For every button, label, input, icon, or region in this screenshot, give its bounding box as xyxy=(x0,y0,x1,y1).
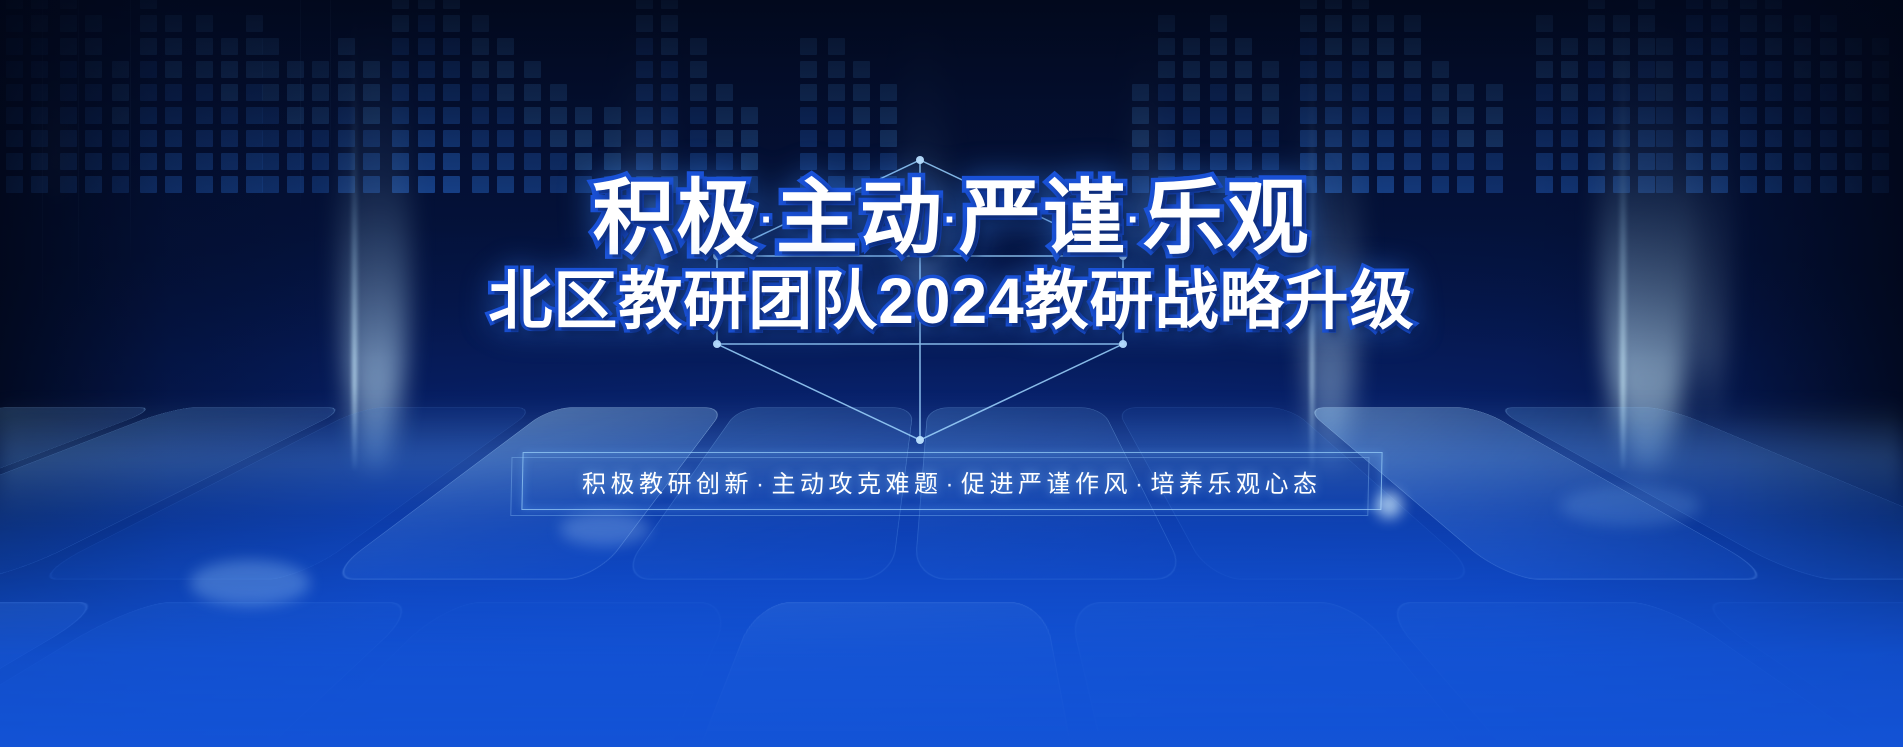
skyline-pixel xyxy=(287,107,304,124)
skyline-pixel xyxy=(1377,84,1394,101)
skyline-pixel xyxy=(418,0,435,9)
skyline-pixel-column xyxy=(1656,38,1673,193)
skyline-pixel xyxy=(85,15,102,32)
skyline-pixel xyxy=(741,107,758,124)
skyline-pixel xyxy=(1561,61,1578,78)
skyline-pixel xyxy=(828,130,845,147)
skyline-pixel xyxy=(661,107,678,124)
skyline-pixel xyxy=(60,153,77,170)
skyline-pixel xyxy=(1561,153,1578,170)
skyline-pixel xyxy=(1235,38,1252,55)
skyline-pixel xyxy=(1352,107,1369,124)
title-separator-1: · xyxy=(760,198,775,242)
skyline-pixel xyxy=(1740,153,1757,170)
skyline-pixel xyxy=(1656,107,1673,124)
skyline-pixel xyxy=(524,61,541,78)
skyline-pixel xyxy=(221,153,238,170)
skyline-pixel xyxy=(1820,153,1837,170)
skyline-pixel xyxy=(1432,153,1449,170)
skyline-pixel xyxy=(1300,61,1317,78)
skyline-pixel xyxy=(1210,130,1227,147)
skyline-pixel xyxy=(1765,153,1782,170)
skyline-pixel xyxy=(221,130,238,147)
skyline-pixel xyxy=(1765,107,1782,124)
skyline-pixel xyxy=(1711,107,1728,124)
skyline-pixel xyxy=(1432,61,1449,78)
skyline-pixel xyxy=(196,61,213,78)
skyline-pixel xyxy=(246,107,263,124)
skyline-pixel xyxy=(472,107,489,124)
skyline-pixel xyxy=(1183,38,1200,55)
skyline-pixel xyxy=(636,61,653,78)
skyline-pixel xyxy=(246,15,263,32)
skyline-pixel xyxy=(853,107,870,124)
skyline-pixel xyxy=(1638,84,1655,101)
skyline-pixel xyxy=(1210,107,1227,124)
skyline-pixel xyxy=(1588,15,1605,32)
skyline-pixel xyxy=(262,84,279,101)
title-separator-3: · xyxy=(1127,198,1142,242)
skyline-pixel xyxy=(312,84,329,101)
skyline-pixel xyxy=(800,84,817,101)
skyline-pixel xyxy=(1300,153,1317,170)
skyline-pixel xyxy=(1325,15,1342,32)
skyline-pixel xyxy=(472,15,489,32)
skyline-pixel xyxy=(1352,84,1369,101)
skyline-pixel xyxy=(1794,38,1811,55)
skyline-pixel xyxy=(246,61,263,78)
skyline-pixel xyxy=(1820,107,1837,124)
tagline-separator-2: · xyxy=(942,471,961,498)
skyline-pixel xyxy=(85,153,102,170)
skyline-pixel xyxy=(716,130,733,147)
skyline-pixel xyxy=(1325,107,1342,124)
skyline-pixel xyxy=(1686,0,1703,9)
skyline-pixel xyxy=(1377,61,1394,78)
skyline-pixel-column xyxy=(312,61,329,193)
page-title: 积极·主动·严谨·乐观 xyxy=(592,178,1310,260)
skyline-pixel xyxy=(472,38,489,55)
skyline-pixel xyxy=(1404,38,1421,55)
skyline-pixel xyxy=(716,84,733,101)
skyline-pixel xyxy=(1588,61,1605,78)
skyline-pixel xyxy=(828,61,845,78)
skyline-pixel xyxy=(60,61,77,78)
skyline-pixel xyxy=(1740,107,1757,124)
skyline-pixel xyxy=(1711,84,1728,101)
skyline-pixel xyxy=(1235,107,1252,124)
title-word-4: 乐观 xyxy=(1143,173,1311,264)
skyline-pixel xyxy=(246,130,263,147)
skyline-pixel xyxy=(1686,61,1703,78)
skyline-pixel xyxy=(140,15,157,32)
skyline-pixel-column xyxy=(31,0,48,193)
skyline-pixel xyxy=(1588,38,1605,55)
main-title-row: 积极·主动·严谨·乐观 xyxy=(0,178,1903,260)
skyline-pixel xyxy=(363,130,380,147)
skyline-pixel xyxy=(1432,130,1449,147)
skyline-pixel xyxy=(140,153,157,170)
skyline-pixel xyxy=(524,153,541,170)
skyline-pixel-column xyxy=(1235,38,1252,193)
skyline-pixel xyxy=(636,130,653,147)
skyline-pixel xyxy=(1377,15,1394,32)
skyline-pixel xyxy=(418,153,435,170)
skyline-pixel xyxy=(287,153,304,170)
skyline-pixel xyxy=(1686,38,1703,55)
skyline-pixel xyxy=(338,84,355,101)
skyline-pixel xyxy=(1711,130,1728,147)
skyline-pixel xyxy=(1457,84,1474,101)
skyline-pixel xyxy=(140,130,157,147)
skyline-pixel-column xyxy=(165,15,182,193)
skyline-pixel xyxy=(1132,107,1149,124)
skyline-pixel xyxy=(6,61,23,78)
skyline-pixel xyxy=(1404,153,1421,170)
skyline-pixel xyxy=(287,84,304,101)
skyline-pixel xyxy=(262,38,279,55)
skyline-pixel xyxy=(853,61,870,78)
title-block: 积极·主动·严谨·乐观 北区教研团队2024教研战略升级 xyxy=(0,178,1903,336)
skyline-pixel xyxy=(550,130,567,147)
skyline-pixel xyxy=(661,84,678,101)
skyline-pixel xyxy=(1457,153,1474,170)
skyline-pixel-column xyxy=(1536,15,1553,193)
skyline-pixel xyxy=(1845,153,1862,170)
skyline-pixel xyxy=(1210,15,1227,32)
skyline-pixel xyxy=(165,38,182,55)
skyline-pixel-column xyxy=(1457,84,1474,193)
skyline-pixel xyxy=(1794,61,1811,78)
skyline-pixel xyxy=(60,84,77,101)
skyline-pixel xyxy=(1300,38,1317,55)
skyline-pixel-column xyxy=(443,0,460,193)
skyline-pixel xyxy=(1536,107,1553,124)
skyline-pixel xyxy=(392,107,409,124)
skyline-pixel xyxy=(443,15,460,32)
skyline-pixel-column xyxy=(196,15,213,193)
skyline-pixel xyxy=(112,153,129,170)
skyline-pixel xyxy=(1765,130,1782,147)
skyline-pixel xyxy=(1404,107,1421,124)
skyline-pixel-column xyxy=(1352,0,1369,193)
skyline-pixel xyxy=(741,130,758,147)
skyline-pixel xyxy=(636,38,653,55)
skyline-pixel xyxy=(1711,0,1728,9)
skyline-pixel xyxy=(1656,130,1673,147)
skyline-pixel xyxy=(1656,153,1673,170)
skyline-pixel xyxy=(1158,15,1175,32)
skyline-pixel xyxy=(550,153,567,170)
skyline-pixel xyxy=(1536,84,1553,101)
skyline-pixel xyxy=(140,38,157,55)
skyline-pixel xyxy=(1158,107,1175,124)
skyline-pixel xyxy=(312,107,329,124)
tagline-item-4: 培养乐观心态 xyxy=(1150,471,1321,498)
skyline-pixel xyxy=(1536,61,1553,78)
skyline-pixel xyxy=(196,84,213,101)
skyline-pixel xyxy=(246,38,263,55)
skyline-pixel xyxy=(85,107,102,124)
skyline-pixel xyxy=(690,84,707,101)
skyline-pixel-column xyxy=(85,15,102,193)
skyline-pixel xyxy=(604,153,621,170)
skyline-pixel xyxy=(497,107,514,124)
skyline-pixel xyxy=(1235,61,1252,78)
skyline-pixel xyxy=(661,130,678,147)
skyline-pixel-column xyxy=(1588,0,1605,193)
skyline-pixel xyxy=(690,38,707,55)
skyline-pixel xyxy=(1638,0,1655,9)
skyline-pixel-column xyxy=(1845,38,1862,193)
skyline-pixel xyxy=(1686,84,1703,101)
skyline-pixel xyxy=(1158,61,1175,78)
skyline-pixel xyxy=(1158,130,1175,147)
skyline-pixel xyxy=(472,153,489,170)
skyline-pixel-column xyxy=(1377,15,1394,193)
skyline-pixel xyxy=(472,130,489,147)
skyline-pixel xyxy=(262,153,279,170)
skyline-pixel xyxy=(312,61,329,78)
skyline-pixel xyxy=(524,107,541,124)
skyline-pixel xyxy=(1377,130,1394,147)
tagline-separator-1: · xyxy=(753,471,772,498)
skyline-pixel xyxy=(363,153,380,170)
skyline-pixel xyxy=(1613,84,1630,101)
skyline-pixel xyxy=(196,38,213,55)
skyline-pixel xyxy=(1820,84,1837,101)
skyline-pixel xyxy=(1132,130,1149,147)
skyline-pixel xyxy=(1794,130,1811,147)
skyline-pixel xyxy=(1638,15,1655,32)
skyline-pixel xyxy=(443,0,460,9)
skyline-pixel xyxy=(287,61,304,78)
skyline-pixel-column xyxy=(1404,15,1421,193)
skyline-pixel xyxy=(800,38,817,55)
skyline-pixel xyxy=(1820,15,1837,32)
skyline-pixel xyxy=(1352,153,1369,170)
skyline-pixel xyxy=(363,84,380,101)
skyline-pixel xyxy=(636,84,653,101)
skyline-pixel xyxy=(690,130,707,147)
skyline-pixel xyxy=(1404,130,1421,147)
skyline-pixel-column xyxy=(6,0,23,193)
skyline-pixel xyxy=(338,38,355,55)
skyline-pixel xyxy=(1820,38,1837,55)
skyline-pixel xyxy=(1262,61,1279,78)
skyline-pixel xyxy=(1638,38,1655,55)
skyline-pixel xyxy=(6,84,23,101)
tagline-item-3: 促进严谨作风 xyxy=(961,471,1132,498)
skyline-pixel xyxy=(1325,84,1342,101)
skyline-pixel xyxy=(1588,130,1605,147)
skyline-pixel xyxy=(6,153,23,170)
skyline-pixel xyxy=(1872,61,1889,78)
skyline-pixel xyxy=(112,107,129,124)
skyline-pixel-column xyxy=(418,0,435,193)
skyline-pixel xyxy=(1588,84,1605,101)
skyline-pixel xyxy=(1740,0,1757,9)
skyline-pixel xyxy=(1872,84,1889,101)
skyline-pixel xyxy=(1638,107,1655,124)
skyline-pixel-column xyxy=(1638,0,1655,193)
skyline-pixel-column xyxy=(60,0,77,193)
skyline-pixel xyxy=(1377,107,1394,124)
skyline-pixel xyxy=(6,0,23,9)
skyline-pixel xyxy=(363,107,380,124)
skyline-pixel xyxy=(1740,61,1757,78)
skyline-pixel xyxy=(60,107,77,124)
skyline-pixel xyxy=(392,153,409,170)
skyline-pixel xyxy=(497,38,514,55)
skyline-pixel xyxy=(392,130,409,147)
skyline-pixel xyxy=(1210,84,1227,101)
skyline-pixel xyxy=(661,15,678,32)
skyline-pixel xyxy=(472,84,489,101)
skyline-pixel xyxy=(497,153,514,170)
skyline-pixel xyxy=(312,130,329,147)
skyline-pixel xyxy=(1845,107,1862,124)
skyline-pixel xyxy=(1845,84,1862,101)
skyline-pixel xyxy=(60,0,77,9)
skyline-pixel xyxy=(60,38,77,55)
skyline-pixel xyxy=(1377,38,1394,55)
skyline-pixel-column xyxy=(1740,0,1757,193)
skyline-pixel xyxy=(1711,61,1728,78)
skyline-pixel xyxy=(1432,84,1449,101)
skyline-pixel xyxy=(472,61,489,78)
skyline-pixel-column xyxy=(497,38,514,193)
skyline-pixel xyxy=(140,61,157,78)
skyline-pixel xyxy=(604,130,621,147)
skyline-pixel xyxy=(1486,84,1503,101)
skyline-pixel xyxy=(1486,130,1503,147)
skyline-pixel xyxy=(221,61,238,78)
skyline-pixel xyxy=(828,38,845,55)
skyline-pixel xyxy=(853,84,870,101)
skyline-pixel xyxy=(31,38,48,55)
skyline-pixel xyxy=(338,153,355,170)
skyline-pixel xyxy=(1158,153,1175,170)
skyline-pixel xyxy=(1613,38,1630,55)
skyline-pixel xyxy=(31,130,48,147)
skyline-pixel xyxy=(575,153,592,170)
skyline-pixel xyxy=(1686,107,1703,124)
skyline-pixel xyxy=(1686,15,1703,32)
skyline-pixel xyxy=(1300,130,1317,147)
skyline-pixel-column xyxy=(392,0,409,193)
skyline-pixel xyxy=(1235,130,1252,147)
skyline-pixel xyxy=(1656,38,1673,55)
skyline-pixel xyxy=(1183,130,1200,147)
skyline-pixel xyxy=(1325,130,1342,147)
skyline-pixel xyxy=(1352,15,1369,32)
skyline-pixel-column xyxy=(338,38,355,193)
skyline-pixel-column xyxy=(1183,38,1200,193)
skyline-pixel xyxy=(690,107,707,124)
skyline-pixel xyxy=(524,130,541,147)
skyline-pixel xyxy=(443,61,460,78)
skyline-pixel-column xyxy=(1711,0,1728,193)
skyline-pixel xyxy=(1794,153,1811,170)
skyline-pixel xyxy=(1325,0,1342,9)
skyline-pixel xyxy=(1613,153,1630,170)
skyline-pixel xyxy=(140,84,157,101)
skyline-pixel xyxy=(1613,15,1630,32)
skyline-pixel xyxy=(1325,153,1342,170)
skyline-pixel-column xyxy=(1325,0,1342,193)
skyline-pixel xyxy=(1210,61,1227,78)
skyline-pixel xyxy=(1536,130,1553,147)
skyline-pixel-column xyxy=(140,0,157,193)
skyline-pixel xyxy=(1158,84,1175,101)
skyline-pixel xyxy=(800,107,817,124)
skyline-pixel xyxy=(1486,107,1503,124)
skyline-pixel xyxy=(392,84,409,101)
skyline-pixel xyxy=(575,107,592,124)
skyline-pixel xyxy=(1588,107,1605,124)
skyline-pixel xyxy=(196,153,213,170)
skyline-pixel xyxy=(443,38,460,55)
skyline-pixel xyxy=(828,107,845,124)
skyline-pixel xyxy=(1536,15,1553,32)
skyline-pixel xyxy=(1457,130,1474,147)
skyline-pixel xyxy=(661,153,678,170)
skyline-pixel xyxy=(443,130,460,147)
skyline-pixel xyxy=(262,61,279,78)
skyline-pixel xyxy=(497,130,514,147)
skyline-pixel xyxy=(287,130,304,147)
skyline-pixel xyxy=(140,107,157,124)
tagline-separator-3: · xyxy=(1132,471,1151,498)
skyline-pixel xyxy=(1377,153,1394,170)
skyline-pixel xyxy=(165,84,182,101)
tagline-wrap: 积极教研创新·主动攻克难题·促进严谨作风·培养乐观心态 xyxy=(0,452,1903,510)
skyline-pixel xyxy=(800,130,817,147)
skyline-pixel xyxy=(6,38,23,55)
skyline-pixel xyxy=(221,84,238,101)
skyline-pixel-column xyxy=(1613,15,1630,193)
skyline-pixel xyxy=(1638,153,1655,170)
skyline-pixel xyxy=(1183,61,1200,78)
skyline-pixel xyxy=(1325,61,1342,78)
skyline-pixel xyxy=(1561,107,1578,124)
skyline-pixel xyxy=(853,130,870,147)
tagline-frame: 积极教研创新·主动攻克难题·促进严谨作风·培养乐观心态 xyxy=(521,452,1382,510)
skyline-pixel xyxy=(60,130,77,147)
skyline-pixel xyxy=(1656,61,1673,78)
skyline-pixel-column xyxy=(1872,38,1889,193)
skyline-pixel-column xyxy=(112,61,129,193)
skyline-pixel xyxy=(1794,84,1811,101)
skyline-pixel xyxy=(1352,0,1369,9)
skyline-pixel xyxy=(196,15,213,32)
skyline-pixel xyxy=(31,15,48,32)
subtitle-row: 北区教研团队2024教研战略升级 xyxy=(0,260,1903,336)
skyline-pixel xyxy=(880,107,897,124)
skyline-pixel xyxy=(392,0,409,9)
skyline-pixel xyxy=(575,130,592,147)
skyline-pixel xyxy=(85,84,102,101)
skyline-pixel xyxy=(550,107,567,124)
skyline-pixel xyxy=(1613,61,1630,78)
skyline-pixel xyxy=(221,107,238,124)
skyline-pixel-column xyxy=(1486,84,1503,193)
skyline-pixel xyxy=(165,153,182,170)
skyline-pixel-column xyxy=(1561,38,1578,193)
skyline-pixel xyxy=(1235,153,1252,170)
skyline-pixel xyxy=(60,15,77,32)
